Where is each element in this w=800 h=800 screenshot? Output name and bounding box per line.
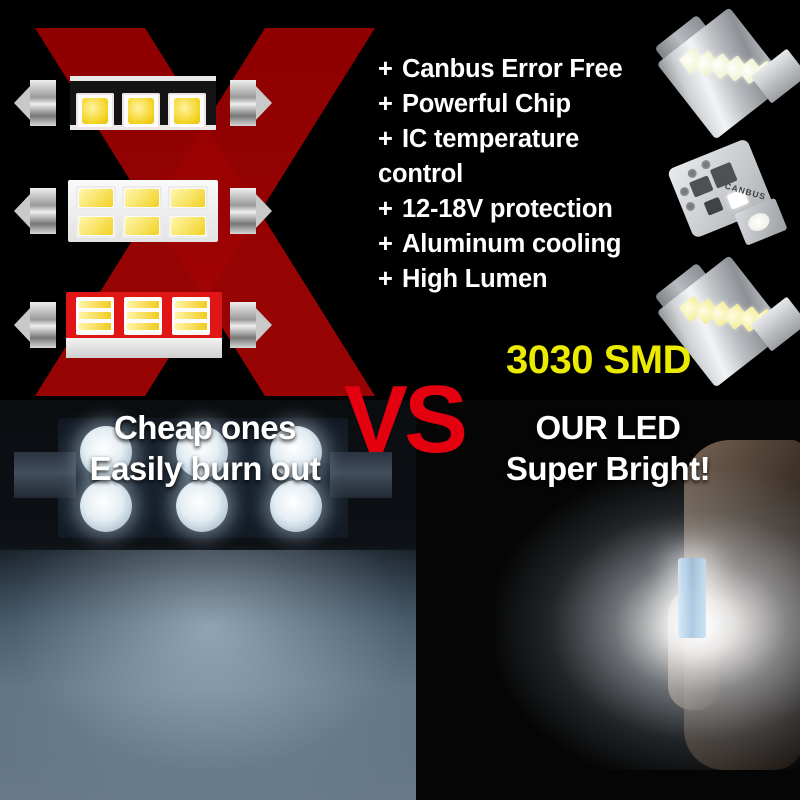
feature-list: +Canbus Error Free +Powerful Chip +IC te… (378, 52, 688, 297)
feature-item: +High Lumen (378, 262, 688, 297)
feature-label: 12-18V protection (402, 195, 613, 223)
plus-icon: + (378, 52, 402, 87)
feature-label: High Lumen (402, 265, 547, 293)
bulb-end-cap-right (230, 80, 268, 126)
smd-badge: 3030 SMD (506, 340, 691, 380)
cheap-bulb-1 (18, 72, 268, 134)
plus-icon: + (378, 227, 402, 262)
bulb-pcb (70, 76, 216, 130)
feature-item: +Powerful Chip (378, 87, 688, 122)
feature-item: +IC temperature (378, 122, 688, 157)
feature-label: Aluminum cooling (402, 230, 621, 258)
bulb-pcb (66, 292, 222, 340)
cheap-headline-line2: Easily burn out (30, 448, 380, 489)
plus-icon: + (378, 262, 402, 297)
feature-label: control (378, 160, 463, 188)
feature-label: IC temperature (402, 125, 579, 153)
feature-item: +12-18V protection (378, 192, 688, 227)
our-headline: OUR LED Super Bright! (432, 407, 784, 489)
bulb-end-cap-left (18, 302, 56, 348)
lit-our-bulb (678, 558, 706, 638)
plus-icon: + (378, 192, 402, 227)
plus-icon: + (378, 122, 402, 157)
our-headline-line2: Super Bright! (432, 448, 784, 489)
vs-label: VS (344, 372, 464, 468)
cheap-bulb-3 (18, 290, 268, 360)
feature-item-continuation: control (378, 157, 688, 192)
feature-label: Canbus Error Free (402, 55, 623, 83)
bulb-end-cap-left (18, 80, 56, 126)
bulb-end-cap-left (18, 188, 56, 234)
bulb-end-cap-right (230, 302, 268, 348)
feature-item: +Aluminum cooling (378, 227, 688, 262)
cheap-bulb-2 (18, 178, 268, 244)
infographic-canvas: +Canbus Error Free +Powerful Chip +IC te… (0, 0, 800, 800)
cheap-headline-line1: Cheap ones (30, 407, 380, 448)
blue-light-pool (0, 550, 416, 800)
white-light-beam (496, 470, 800, 770)
our-headline-line1: OUR LED (432, 407, 784, 448)
cheap-headline: Cheap ones Easily burn out (30, 407, 380, 489)
feature-label: Powerful Chip (402, 90, 571, 118)
plus-icon: + (378, 87, 402, 122)
bulb-pcb (68, 180, 218, 242)
bulb-end-cap-right (230, 188, 268, 234)
